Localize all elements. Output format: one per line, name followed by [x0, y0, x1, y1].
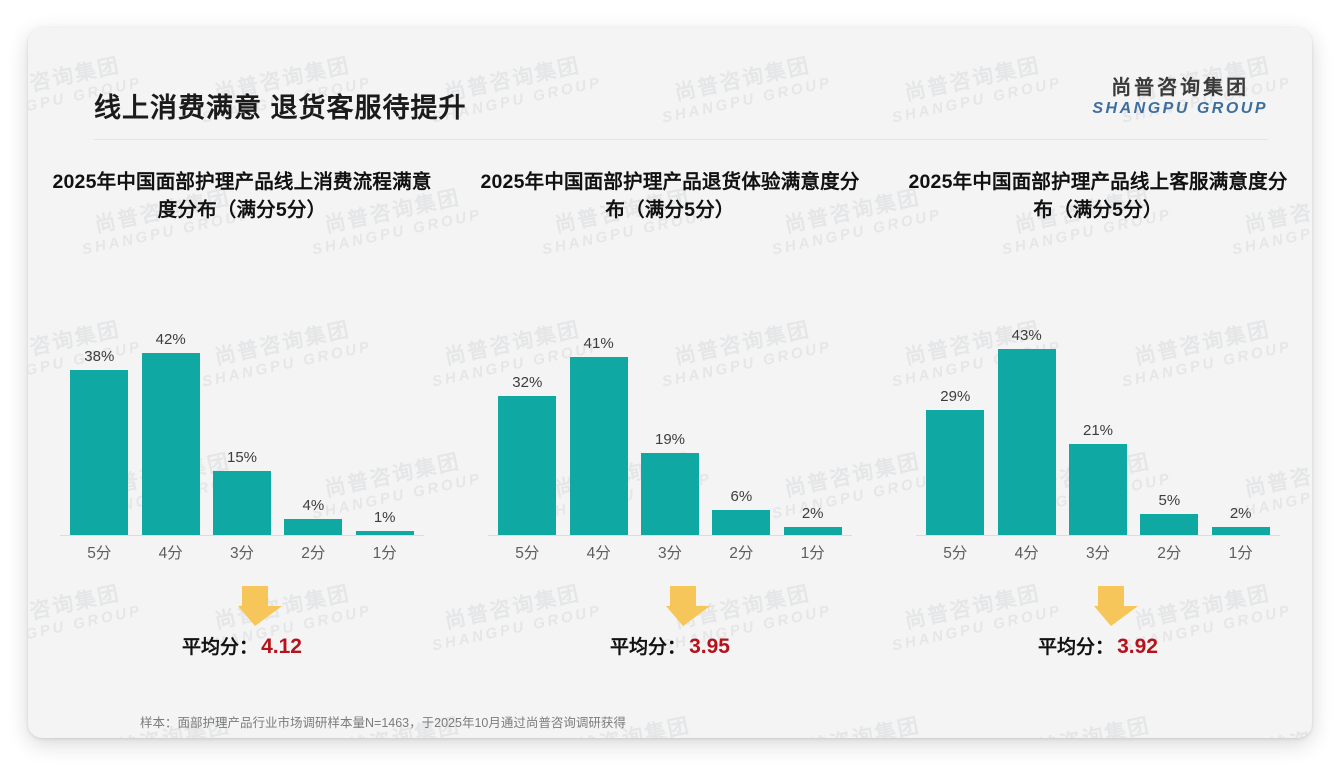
x-tick-label: 5分: [924, 541, 987, 563]
plot-area: 32%41%19%6%2%5分4分3分2分1分: [496, 276, 844, 566]
bar[interactable]: [641, 453, 699, 536]
bar-value-label: 41%: [584, 335, 614, 352]
watermark: 尚普咨询集团SHANGPU GROUP: [1226, 710, 1312, 738]
bar-value-label: 4%: [303, 497, 325, 514]
bar[interactable]: [712, 510, 770, 536]
chart-title: 2025年中国面部护理产品线上消费流程满意度分布（满分5分）: [40, 168, 444, 226]
watermark-en: SHANGPU GROUP: [311, 734, 484, 738]
average-score-value: 4.12: [261, 635, 302, 658]
watermark-en: SHANGPU GROUP: [541, 734, 714, 738]
bar-value-label: 42%: [156, 331, 186, 348]
average-score-text: 平均分：3.92: [896, 632, 1300, 659]
slide-canvas: 尚普咨询集团SHANGPU GROUP尚普咨询集团SHANGPU GROUP尚普…: [28, 28, 1312, 738]
header-divider: [94, 139, 1268, 140]
page-title: 线上消费满意 退货客服待提升: [94, 86, 467, 125]
bar[interactable]: [498, 396, 556, 536]
average-score-label: 平均分：: [610, 637, 686, 658]
watermark-en: SHANGPU GROUP: [1001, 734, 1174, 738]
x-tick-label: 5分: [496, 541, 559, 563]
plot-area: 29%43%21%5%2%5分4分3分2分1分: [924, 276, 1272, 566]
average-score-block: 平均分：3.92: [896, 584, 1300, 676]
average-score-text: 平均分：3.95: [468, 632, 872, 659]
bar[interactable]: [284, 519, 342, 536]
x-axis-tick-labels: 5分4分3分2分1分: [68, 538, 416, 566]
brand-logo: 尚普咨询集团 SHANGPU GROUP: [1092, 78, 1268, 118]
watermark: 尚普咨询集团SHANGPU GROUP: [996, 710, 1174, 738]
bar-slot: 29%: [924, 318, 987, 536]
bar-slot: 1%: [353, 318, 416, 536]
chart-title: 2025年中国面部护理产品线上客服满意度分布（满分5分）: [896, 168, 1300, 226]
bar-slot: 38%: [68, 318, 131, 536]
x-tick-label: 3分: [639, 541, 702, 563]
x-axis-line: [60, 535, 424, 536]
bar-value-label: 19%: [655, 431, 685, 448]
plot-area: 38%42%15%4%1%5分4分3分2分1分: [68, 276, 416, 566]
bar[interactable]: [1140, 514, 1198, 536]
bar-value-label: 38%: [84, 348, 114, 365]
bar-value-label: 2%: [802, 505, 824, 522]
bar[interactable]: [926, 410, 984, 536]
bar[interactable]: [1069, 444, 1127, 536]
watermark-en: SHANGPU GROUP: [1231, 734, 1312, 738]
brand-logo-cn: 尚普咨询集团: [1092, 78, 1268, 99]
average-score-text: 平均分：4.12: [40, 632, 444, 659]
x-tick-label: 4分: [995, 541, 1058, 563]
down-arrow-icon: [1090, 584, 1142, 628]
bar-slot: 4%: [282, 318, 345, 536]
bar-slot: 6%: [710, 318, 773, 536]
average-score-value: 3.95: [689, 635, 730, 658]
bar-group: 32%41%19%6%2%: [496, 318, 844, 536]
x-axis-line: [488, 535, 852, 536]
x-axis-tick-labels: 5分4分3分2分1分: [496, 538, 844, 566]
x-axis-tick-labels: 5分4分3分2分1分: [924, 538, 1272, 566]
bar-slot: 15%: [211, 318, 274, 536]
chart-title: 2025年中国面部护理产品退货体验满意度分布（满分5分）: [468, 168, 872, 226]
bar-slot: 2%: [781, 318, 844, 536]
bar-value-label: 2%: [1230, 505, 1252, 522]
chart-panel-2: 2025年中国面部护理产品退货体验满意度分布（满分5分）32%41%19%6%2…: [456, 168, 884, 688]
brand-logo-en: SHANGPU GROUP: [1092, 101, 1268, 118]
bar-group: 38%42%15%4%1%: [68, 318, 416, 536]
bar[interactable]: [570, 357, 628, 536]
watermark-cn: 尚普咨询集团: [1226, 710, 1312, 738]
bar[interactable]: [213, 471, 271, 536]
bar-value-label: 43%: [1012, 327, 1042, 344]
x-tick-label: 1分: [353, 541, 416, 563]
bar-slot: 41%: [567, 318, 630, 536]
watermark: 尚普咨询集团SHANGPU GROUP: [766, 710, 944, 738]
watermark-en: SHANGPU GROUP: [81, 734, 254, 738]
average-score-label: 平均分：: [182, 637, 258, 658]
bar-slot: 21%: [1067, 318, 1130, 536]
x-tick-label: 3分: [1067, 541, 1130, 563]
down-arrow-icon: [234, 584, 286, 628]
x-tick-label: 1分: [781, 541, 844, 563]
bar-value-label: 21%: [1083, 422, 1113, 439]
bar-value-label: 32%: [512, 374, 542, 391]
bar-value-label: 5%: [1159, 492, 1181, 509]
x-axis-line: [916, 535, 1280, 536]
chart-panel-1: 2025年中国面部护理产品线上消费流程满意度分布（满分5分）38%42%15%4…: [28, 168, 456, 688]
x-tick-label: 2分: [282, 541, 345, 563]
bar-slot: 5%: [1138, 318, 1201, 536]
charts-row: 2025年中国面部护理产品线上消费流程满意度分布（满分5分）38%42%15%4…: [28, 168, 1312, 688]
bar[interactable]: [70, 370, 128, 536]
average-score-block: 平均分：4.12: [40, 584, 444, 676]
average-score-block: 平均分：3.95: [468, 584, 872, 676]
watermark-cn: 尚普咨询集团: [766, 710, 940, 738]
average-score-value: 3.92: [1117, 635, 1158, 658]
bar-slot: 2%: [1209, 318, 1272, 536]
down-arrow-icon: [662, 584, 714, 628]
x-tick-label: 1分: [1209, 541, 1272, 563]
x-tick-label: 4分: [139, 541, 202, 563]
bar-value-label: 15%: [227, 449, 257, 466]
watermark-en: SHANGPU GROUP: [771, 734, 944, 738]
sample-footnote: 样本：面部护理产品行业市场调研样本量N=1463，于2025年10月通过尚普咨询…: [140, 712, 626, 731]
slide-header: 线上消费满意 退货客服待提升 尚普咨询集团 SHANGPU GROUP: [28, 28, 1312, 140]
bar-group: 29%43%21%5%2%: [924, 318, 1272, 536]
bar[interactable]: [998, 349, 1056, 536]
x-tick-label: 2分: [710, 541, 773, 563]
bar-slot: 32%: [496, 318, 559, 536]
bar-slot: 19%: [639, 318, 702, 536]
chart-panel-3: 2025年中国面部护理产品线上客服满意度分布（满分5分）29%43%21%5%2…: [884, 168, 1312, 688]
bar-value-label: 6%: [731, 488, 753, 505]
bar-value-label: 29%: [940, 388, 970, 405]
bar-slot: 42%: [139, 318, 202, 536]
x-tick-label: 5分: [68, 541, 131, 563]
x-tick-label: 2分: [1138, 541, 1201, 563]
bar[interactable]: [142, 353, 200, 536]
x-tick-label: 4分: [567, 541, 630, 563]
x-tick-label: 3分: [211, 541, 274, 563]
bar-slot: 43%: [995, 318, 1058, 536]
bar-value-label: 1%: [374, 509, 396, 526]
watermark-cn: 尚普咨询集团: [996, 710, 1170, 738]
average-score-label: 平均分：: [1038, 637, 1114, 658]
